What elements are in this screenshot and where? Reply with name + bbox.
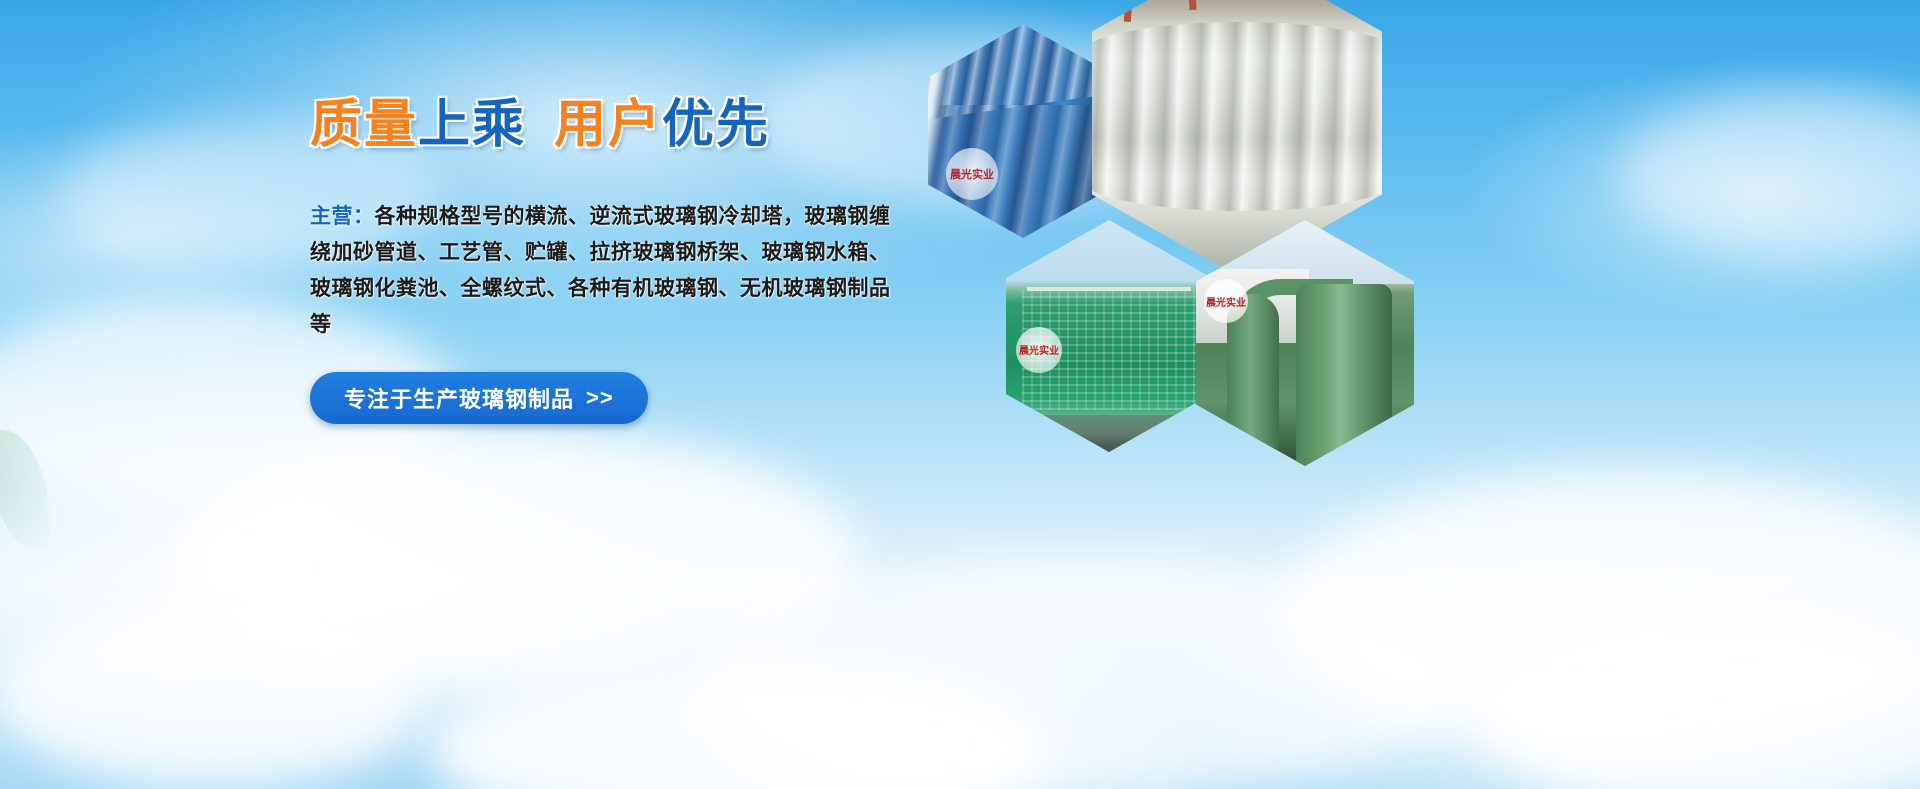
description-lead: 主营： [310,204,375,228]
watermark-logo: 晨光实业 [946,148,998,200]
watermark-logo: 晨光实业 [1204,279,1248,323]
tower-rail [1027,287,1192,291]
headline-segment-4: 优先 [662,96,770,156]
headline-segment-3: 用户 [554,96,662,156]
headline-segment-1: 质量 [310,96,418,156]
banner-headline: 质量上乘用户优先 [310,96,950,156]
cloud-decoration [0,600,420,789]
hex-photo-cooling-towers[interactable]: 晨光实业 [1006,220,1212,452]
cta-button[interactable]: 专注于生产玻璃钢制品 >> [310,372,648,424]
banner-content: 质量上乘用户优先 主营：各种规格型号的横流、逆流式玻璃钢冷却塔，玻璃钢缠绕加砂管… [310,96,950,424]
tower-body [1296,284,1392,466]
double-chevron-right-icon: >> [586,385,614,411]
product-hexagon-collage: 晨光实业 晨光实业 晨光实业 [920,8,1440,408]
description-line-3: 粪池、全螺纹式、各种有机玻璃钢、无机玻璃钢制品等 [310,276,891,336]
cloud-decoration [1620,90,1920,260]
cta-label: 专注于生产玻璃钢制品 [344,382,574,414]
watermark-logo: 晨光实业 [1016,327,1062,373]
promo-banner: 质量上乘用户优先 主营：各种规格型号的横流、逆流式玻璃钢冷却塔，玻璃钢缠绕加砂管… [0,0,1920,789]
grey-pipes-image [1092,0,1382,276]
banner-description: 主营：各种规格型号的横流、逆流式玻璃钢冷却塔，玻璃钢缠绕加砂管道、工艺管、贮罐、… [310,198,910,342]
hex-photo-large-frp-pipes[interactable] [1092,0,1382,276]
blue-pipes-image [928,24,1118,238]
headline-segment-2: 上乘 [418,96,526,156]
hex-photo-blue-frp-pipes[interactable]: 晨光实业 [928,24,1118,238]
